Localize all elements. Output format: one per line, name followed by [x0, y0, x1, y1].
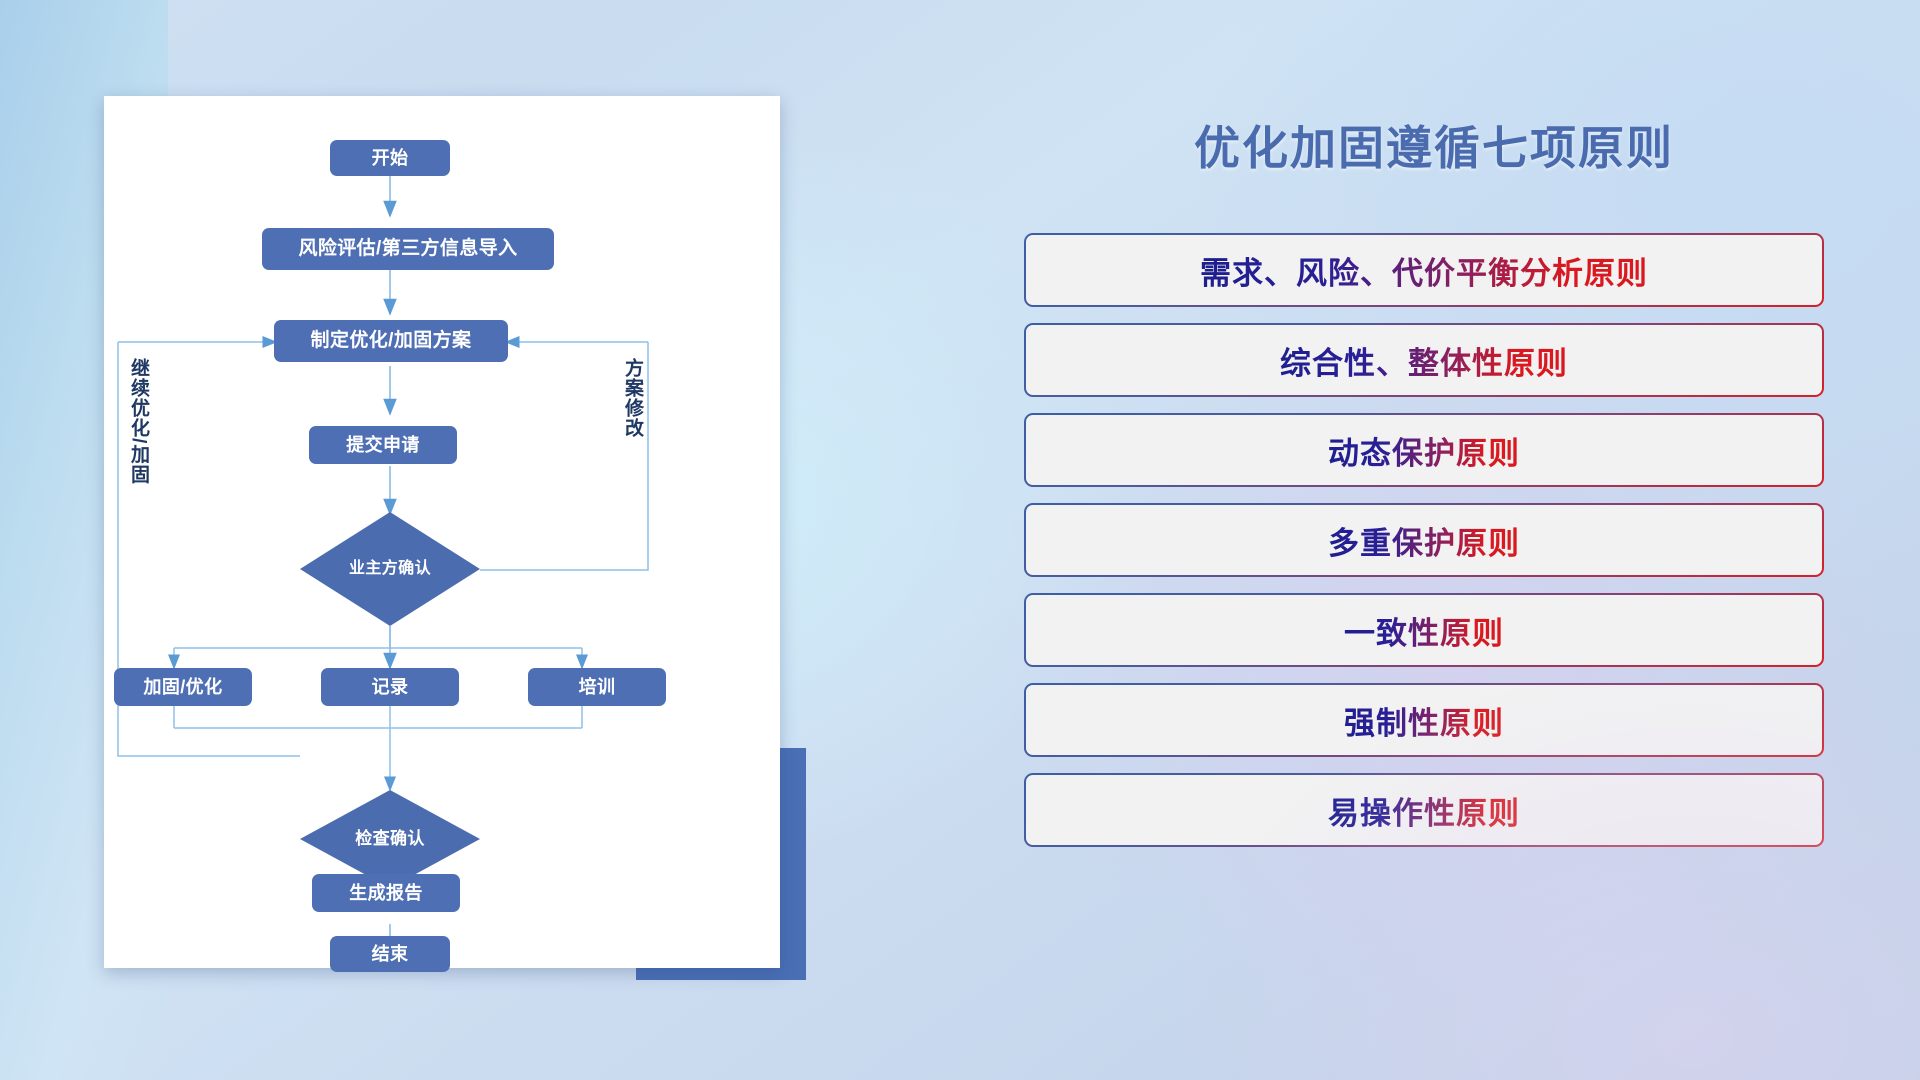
- principle-card[interactable]: 多重保护原则: [1024, 503, 1824, 577]
- flow-node-record[interactable]: 记录: [321, 668, 459, 706]
- principle-card-inner: 需求、风险、代价平衡分析原则: [1026, 235, 1822, 305]
- flow-node-plan-label: 制定优化/加固方案: [311, 330, 472, 352]
- flow-node-risk-assessment-label: 风险评估/第三方信息导入: [298, 238, 517, 260]
- flow-node-plan[interactable]: 制定优化/加固方案: [274, 320, 508, 362]
- principle-card[interactable]: 需求、风险、代价平衡分析原则: [1024, 233, 1824, 307]
- flowchart-canvas: 开始 风险评估/第三方信息导入 制定优化/加固方案 提交申请 业主方确认 加固/…: [104, 96, 780, 968]
- principle-list: 需求、风险、代价平衡分析原则 综合性、整体性原则 动态保护原则 多重保护原则 一…: [1024, 233, 1824, 863]
- flow-node-check-confirm-label: 检查确认: [355, 829, 425, 849]
- flow-node-training-label: 培训: [579, 677, 616, 698]
- flow-node-owner-confirm-label: 业主方确认: [349, 560, 431, 578]
- flow-node-owner-confirm[interactable]: 业主方确认: [300, 512, 480, 626]
- principle-card-inner: 多重保护原则: [1026, 505, 1822, 575]
- principle-card[interactable]: 强制性原则: [1024, 683, 1824, 757]
- flow-node-end[interactable]: 结束: [330, 936, 450, 972]
- principle-card-inner: 一致性原则: [1026, 595, 1822, 665]
- principle-card[interactable]: 易操作性原则: [1024, 773, 1824, 847]
- flow-node-start-label: 开始: [372, 148, 409, 169]
- principle-label: 需求、风险、代价平衡分析原则: [1200, 248, 1648, 293]
- flowchart-card: 开始 风险评估/第三方信息导入 制定优化/加固方案 提交申请 业主方确认 加固/…: [104, 96, 780, 968]
- principle-label: 一致性原则: [1344, 608, 1504, 653]
- flow-node-risk-assessment[interactable]: 风险评估/第三方信息导入: [262, 228, 554, 270]
- flow-node-reinforce-label: 加固/优化: [143, 677, 222, 698]
- principle-card-inner: 综合性、整体性原则: [1026, 325, 1822, 395]
- flow-node-record-label: 记录: [372, 677, 409, 698]
- principle-card[interactable]: 综合性、整体性原则: [1024, 323, 1824, 397]
- principle-card-inner: 强制性原则: [1026, 685, 1822, 755]
- flow-node-report-label: 生成报告: [349, 883, 423, 904]
- principle-card[interactable]: 一致性原则: [1024, 593, 1824, 667]
- principle-label: 强制性原则: [1344, 698, 1504, 743]
- slide-root: 开始 风险评估/第三方信息导入 制定优化/加固方案 提交申请 业主方确认 加固/…: [0, 0, 1920, 1080]
- flow-node-submit-label: 提交申请: [346, 435, 420, 456]
- flow-node-start[interactable]: 开始: [330, 140, 450, 176]
- principle-card-inner: 易操作性原则: [1026, 775, 1822, 845]
- principle-label: 综合性、整体性原则: [1280, 338, 1568, 383]
- principle-card[interactable]: 动态保护原则: [1024, 413, 1824, 487]
- edge-label-left-loop: 继续优化/加固: [128, 358, 148, 538]
- flow-node-submit[interactable]: 提交申请: [309, 426, 457, 464]
- principle-label: 多重保护原则: [1328, 518, 1520, 563]
- principle-card-inner: 动态保护原则: [1026, 415, 1822, 485]
- principle-label: 易操作性原则: [1328, 788, 1520, 833]
- principle-label: 动态保护原则: [1328, 428, 1520, 473]
- flow-node-reinforce[interactable]: 加固/优化: [114, 668, 252, 706]
- edge-label-right-loop: 方案修改: [622, 358, 642, 498]
- flow-node-report[interactable]: 生成报告: [312, 874, 460, 912]
- flow-node-end-label: 结束: [372, 944, 409, 965]
- page-title: 优化加固遵循七项原则: [1024, 112, 1844, 178]
- flow-node-training[interactable]: 培训: [528, 668, 666, 706]
